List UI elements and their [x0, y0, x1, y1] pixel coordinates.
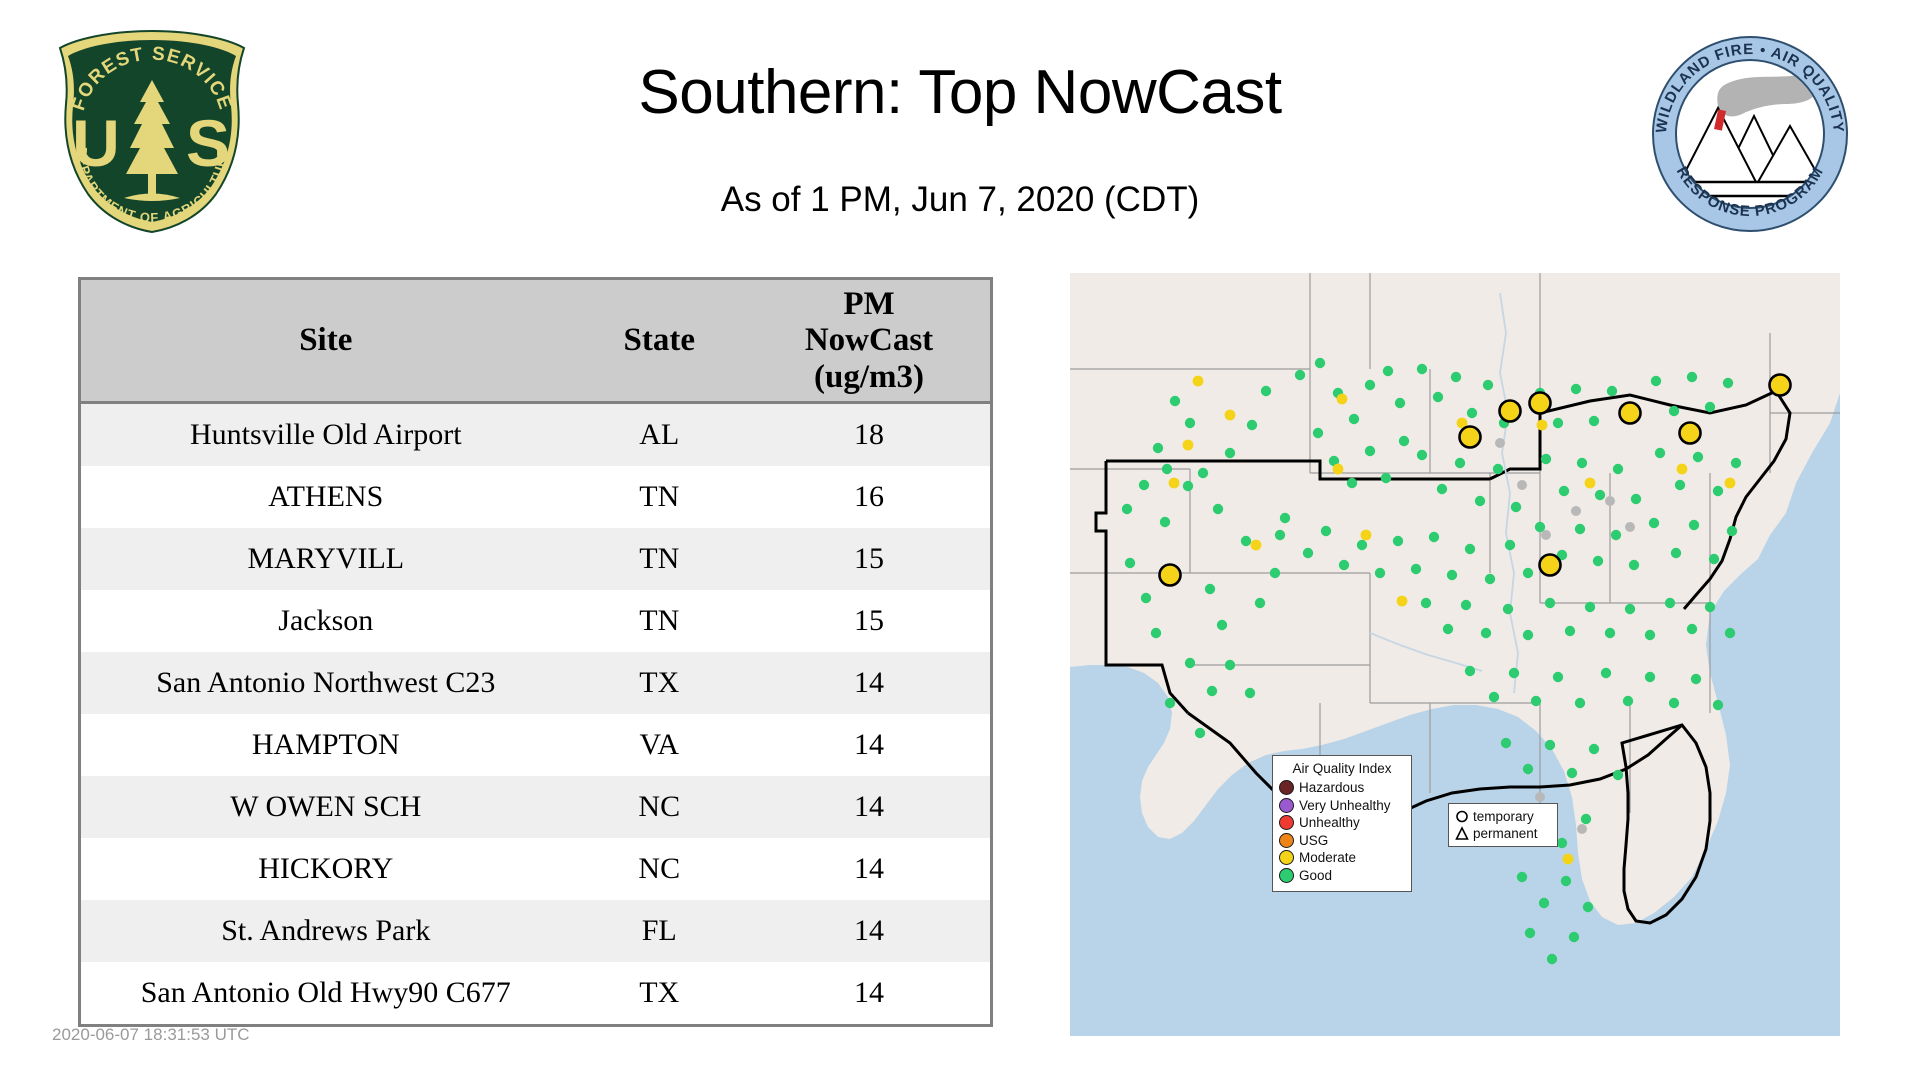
- table-row[interactable]: ATHENSTN16: [80, 466, 992, 528]
- aqi-swatch-icon: [1279, 815, 1294, 830]
- monitor-dot-good: [1375, 568, 1385, 578]
- cell-value: 14: [748, 652, 992, 714]
- monitor-dot-good: [1531, 696, 1541, 706]
- monitor-dot-good: [1247, 420, 1257, 430]
- monitor-dot-good: [1523, 568, 1533, 578]
- cell-state: NC: [571, 776, 748, 838]
- aqi-legend-label: Hazardous: [1299, 781, 1364, 795]
- monitor-dot-moderate: [1251, 540, 1262, 551]
- monitor-dot-good: [1437, 484, 1447, 494]
- triangle-icon: [1455, 826, 1469, 841]
- monitor-dot-good: [1365, 446, 1375, 456]
- monitor-dot-good: [1217, 620, 1227, 630]
- column-header-site[interactable]: Site: [80, 279, 571, 403]
- monitor-dot-good: [1585, 602, 1595, 612]
- cell-site: San Antonio Old Hwy90 C677: [80, 962, 571, 1026]
- monitor-dot-good: [1561, 876, 1571, 886]
- monitor-dot-good: [1485, 574, 1495, 584]
- wfaqrp-logo: WILDLAND FIRE • AIR QUALITY RESPONSE PRO…: [1650, 34, 1850, 234]
- monitor-dot-good: [1303, 548, 1313, 558]
- monitor-dot-good: [1349, 414, 1359, 424]
- cell-state: NC: [571, 838, 748, 900]
- table-row[interactable]: Huntsville Old AirportAL18: [80, 402, 992, 466]
- monitor-dot-moderate: [1333, 464, 1344, 475]
- monitor-dot-good: [1411, 564, 1421, 574]
- monitor-dot-good: [1447, 570, 1457, 580]
- monitor-dot-good: [1395, 398, 1405, 408]
- aqi-legend-item: Moderate: [1279, 849, 1405, 867]
- table-row[interactable]: JacksonTN15: [80, 590, 992, 652]
- monitor-dot-good: [1541, 454, 1551, 464]
- monitor-dot-good: [1611, 530, 1621, 540]
- aqi-swatch-icon: [1279, 868, 1294, 883]
- monitor-dot-good: [1160, 517, 1170, 527]
- monitor-dot-good: [1195, 728, 1205, 738]
- aqi-legend-item: Unhealthy: [1279, 814, 1405, 832]
- monitor-dot-good: [1693, 452, 1703, 462]
- cell-value: 14: [748, 838, 992, 900]
- table-row[interactable]: San Antonio Northwest C23TX14: [80, 652, 992, 714]
- pm-label: PM: [843, 286, 894, 322]
- monitor-dot-good: [1675, 480, 1685, 490]
- monitor-dot-good: [1725, 628, 1735, 638]
- monitor-dot-good: [1557, 838, 1567, 848]
- cell-site: Jackson: [80, 590, 571, 652]
- monitor-dot-top-site: [1500, 401, 1521, 422]
- cell-site: St. Andrews Park: [80, 900, 571, 962]
- monitor-dot-good: [1321, 526, 1331, 536]
- monitor-dot-moderate: [1585, 478, 1596, 489]
- symbol-legend-permanent-label: permanent: [1473, 826, 1538, 841]
- cell-state: TN: [571, 590, 748, 652]
- monitor-dot-good: [1122, 504, 1132, 514]
- monitor-dot-top-site: [1460, 427, 1481, 448]
- cell-value: 14: [748, 776, 992, 838]
- monitor-dot-good: [1605, 628, 1615, 638]
- monitor-dot-good: [1613, 464, 1623, 474]
- monitor-dot-good: [1607, 386, 1617, 396]
- monitor-dot-good: [1198, 468, 1208, 478]
- monitor-dot-good: [1270, 568, 1280, 578]
- monitor-dot-moderate: [1725, 478, 1736, 489]
- aqi-legend-title: Air Quality Index: [1279, 761, 1405, 776]
- cell-state: FL: [571, 900, 748, 962]
- monitor-dot-good: [1339, 560, 1349, 570]
- monitor-dot-good: [1691, 674, 1701, 684]
- monitor-dot-good: [1509, 668, 1519, 678]
- monitor-dot-good: [1545, 740, 1555, 750]
- monitor-dot-good: [1589, 416, 1599, 426]
- monitor-dot-good: [1225, 448, 1235, 458]
- monitor-dot-good: [1689, 520, 1699, 530]
- monitor-dot-top-site: [1530, 393, 1551, 414]
- monitor-dot-good: [1553, 672, 1563, 682]
- map-canvas: [1070, 273, 1840, 1036]
- monitor-dot-top-site: [1620, 403, 1641, 424]
- monitor-dot-good: [1433, 392, 1443, 402]
- aqi-legend-label: Unhealthy: [1299, 816, 1360, 830]
- monitor-dot-good: [1553, 418, 1563, 428]
- monitor-dot-good: [1713, 700, 1723, 710]
- monitor-dot-good: [1649, 518, 1659, 528]
- monitor-dot-unavailable: [1605, 496, 1615, 506]
- monitor-dot-good: [1505, 540, 1515, 550]
- footer-timestamp: 2020-06-07 18:31:53 UTC: [52, 1025, 250, 1045]
- monitor-dot-top-site: [1770, 375, 1791, 396]
- monitor-dot-moderate: [1169, 478, 1180, 489]
- monitor-dot-good: [1383, 366, 1393, 376]
- monitor-dot-good: [1645, 630, 1655, 640]
- cell-site: ATHENS: [80, 466, 571, 528]
- monitor-dot-good: [1727, 526, 1737, 536]
- monitor-dot-good: [1185, 418, 1195, 428]
- monitor-dot-top-site: [1160, 565, 1181, 586]
- cell-state: TN: [571, 528, 748, 590]
- monitor-dot-good: [1421, 598, 1431, 608]
- monitor-dot-good: [1417, 364, 1427, 374]
- monitor-dot-good: [1545, 598, 1555, 608]
- units-label: (ug/m3): [814, 359, 924, 395]
- aqi-legend-item: USG: [1279, 832, 1405, 850]
- monitor-dot-moderate: [1537, 420, 1548, 431]
- aqi-legend-label: Good: [1299, 869, 1332, 883]
- table-row[interactable]: San Antonio Old Hwy90 C677TX14: [80, 962, 992, 1026]
- monitor-dot-good: [1503, 604, 1513, 614]
- monitor-dot-good: [1517, 872, 1527, 882]
- monitor-dot-good: [1669, 406, 1679, 416]
- monitor-dot-moderate: [1677, 464, 1688, 475]
- monitor-dot-moderate: [1225, 410, 1236, 421]
- monitor-dot-good: [1489, 692, 1499, 702]
- monitor-dot-good: [1245, 688, 1255, 698]
- monitor-dot-good: [1581, 814, 1591, 824]
- cell-site: MARYVILL: [80, 528, 571, 590]
- monitor-dot-good: [1571, 384, 1581, 394]
- monitor-dot-good: [1629, 560, 1639, 570]
- monitor-dot-top-site: [1540, 555, 1561, 576]
- monitor-dot-unavailable: [1577, 824, 1587, 834]
- monitor-dot-good: [1483, 380, 1493, 390]
- monitor-dot-good: [1525, 928, 1535, 938]
- monitor-dot-moderate: [1183, 440, 1194, 451]
- monitor-dot-good: [1481, 628, 1491, 638]
- monitor-dot-good: [1455, 458, 1465, 468]
- monitor-dot-unavailable: [1625, 522, 1635, 532]
- monitor-dot-good: [1443, 624, 1453, 634]
- monitor-dot-good: [1705, 402, 1715, 412]
- monitor-dot-good: [1139, 480, 1149, 490]
- monitor-dot-good: [1723, 378, 1733, 388]
- table-row[interactable]: W OWEN SCHNC14: [80, 776, 992, 838]
- monitor-dot-good: [1451, 372, 1461, 382]
- monitor-dot-good: [1365, 380, 1375, 390]
- monitor-dot-good: [1261, 386, 1271, 396]
- monitor-dot-moderate: [1337, 394, 1348, 405]
- monitor-dot-good: [1347, 478, 1357, 488]
- monitor-dot-good: [1381, 473, 1391, 483]
- monitor-dot-good: [1213, 504, 1223, 514]
- monitor-dot-good: [1170, 396, 1180, 406]
- monitor-dot-good: [1665, 598, 1675, 608]
- cell-state: TN: [571, 466, 748, 528]
- monitor-dot-good: [1185, 658, 1195, 668]
- monitor-dot-good: [1465, 666, 1475, 676]
- monitor-dot-good: [1523, 630, 1533, 640]
- monitor-dot-good: [1687, 624, 1697, 634]
- monitor-dot-good: [1709, 554, 1719, 564]
- table-row[interactable]: HAMPTONVA14: [80, 714, 992, 776]
- nowcast-table: Site State PM NowCast (ug/m3) Huntsville…: [78, 277, 993, 1027]
- aqi-legend-label: USG: [1299, 834, 1328, 848]
- monitor-dot-good: [1575, 524, 1585, 534]
- monitor-dot-good: [1429, 532, 1439, 542]
- monitor-dot-good: [1467, 408, 1477, 418]
- aqi-legend-item: Hazardous: [1279, 779, 1405, 797]
- monitor-dot-good: [1241, 536, 1251, 546]
- monitor-dot-good: [1153, 443, 1163, 453]
- monitor-dot-good: [1475, 496, 1485, 506]
- monitor-dot-unavailable: [1495, 438, 1505, 448]
- monitor-dot-good: [1125, 558, 1135, 568]
- monitor-dot-unavailable: [1571, 506, 1581, 516]
- monitor-dot-good: [1207, 686, 1217, 696]
- monitor-dot-good: [1399, 436, 1409, 446]
- monitor-dot-moderate: [1361, 530, 1372, 541]
- cell-value: 18: [748, 402, 992, 466]
- aqi-swatch-icon: [1279, 833, 1294, 848]
- monitor-dot-good: [1511, 502, 1521, 512]
- cell-site: HICKORY: [80, 838, 571, 900]
- cell-value: 15: [748, 590, 992, 652]
- monitor-dot-good: [1669, 698, 1679, 708]
- monitor-dot-good: [1547, 954, 1557, 964]
- monitor-dot-good: [1183, 481, 1193, 491]
- aqi-legend-label: Very Unhealthy: [1299, 799, 1391, 813]
- monitor-dot-good: [1601, 668, 1611, 678]
- page-subtitle: As of 1 PM, Jun 7, 2020 (CDT): [380, 180, 1540, 220]
- cell-site: San Antonio Northwest C23: [80, 652, 571, 714]
- monitor-dot-good: [1225, 660, 1235, 670]
- monitor-dot-good: [1313, 428, 1323, 438]
- symbol-legend-temporary-label: temporary: [1473, 809, 1534, 824]
- monitor-dot-good: [1280, 513, 1290, 523]
- cell-site: W OWEN SCH: [80, 776, 571, 838]
- monitor-dot-good: [1623, 696, 1633, 706]
- air-quality-map[interactable]: Air Quality Index HazardousVery Unhealth…: [1070, 273, 1840, 1036]
- monitor-dot-good: [1577, 458, 1587, 468]
- monitor-dot-good: [1417, 450, 1427, 460]
- monitor-dot-good: [1655, 448, 1665, 458]
- page-title: Southern: Top NowCast: [380, 60, 1540, 125]
- aqi-swatch-icon: [1279, 798, 1294, 813]
- monitor-dot-good: [1687, 372, 1697, 382]
- symbol-legend-temporary: temporary: [1455, 808, 1551, 825]
- monitor-dot-good: [1593, 556, 1603, 566]
- monitor-dot-good: [1357, 540, 1367, 550]
- aqi-legend-label: Moderate: [1299, 851, 1356, 865]
- monitor-dot-good: [1731, 458, 1741, 468]
- monitor-dot-good: [1559, 486, 1569, 496]
- cell-state: AL: [571, 402, 748, 466]
- monitor-dot-good: [1631, 494, 1641, 504]
- monitor-dot-good: [1645, 672, 1655, 682]
- monitor-dot-good: [1465, 544, 1475, 554]
- monitor-dot-good: [1539, 898, 1549, 908]
- table-header-row: Site State PM NowCast (ug/m3): [80, 279, 992, 403]
- monitor-dot-good: [1141, 593, 1151, 603]
- nowcast-label: NowCast: [805, 322, 933, 358]
- symbol-legend: temporary permanent: [1448, 803, 1558, 847]
- circle-icon: [1455, 809, 1469, 824]
- monitor-dot-good: [1205, 584, 1215, 594]
- cell-site: Huntsville Old Airport: [80, 402, 571, 466]
- monitor-dot-good: [1583, 902, 1593, 912]
- monitor-dot-unavailable: [1541, 530, 1551, 540]
- monitor-dot-good: [1523, 764, 1533, 774]
- monitor-dot-top-site: [1680, 423, 1701, 444]
- monitor-dot-good: [1671, 548, 1681, 558]
- monitor-dot-good: [1501, 738, 1511, 748]
- cell-value: 14: [748, 714, 992, 776]
- table-row[interactable]: St. Andrews ParkFL14: [80, 900, 992, 962]
- cell-value: 14: [748, 962, 992, 1026]
- monitor-dot-good: [1569, 932, 1579, 942]
- cell-value: 14: [748, 900, 992, 962]
- monitor-dot-good: [1713, 486, 1723, 496]
- cell-state: TX: [571, 652, 748, 714]
- monitor-dot-good: [1151, 628, 1161, 638]
- monitor-dot-moderate: [1193, 376, 1204, 387]
- usfs-shield-logo: FOREST SERVICE U S DEPARTMENT OF AGRICUL…: [52, 26, 252, 236]
- monitor-dot-good: [1162, 464, 1172, 474]
- monitor-dot-good: [1315, 358, 1325, 368]
- monitor-dot-good: [1705, 602, 1715, 612]
- monitor-dot-good: [1275, 530, 1285, 540]
- monitor-dot-moderate: [1563, 854, 1574, 865]
- cell-value: 16: [748, 466, 992, 528]
- aqi-legend-item: Good: [1279, 867, 1405, 885]
- column-header-state[interactable]: State: [571, 279, 748, 403]
- monitor-dot-good: [1393, 536, 1403, 546]
- cell-state: TX: [571, 962, 748, 1026]
- symbol-legend-permanent: permanent: [1455, 825, 1551, 842]
- aqi-swatch-icon: [1279, 780, 1294, 795]
- monitor-dot-good: [1613, 770, 1623, 780]
- aqi-legend: Air Quality Index HazardousVery Unhealth…: [1272, 755, 1412, 892]
- monitor-dot-good: [1565, 626, 1575, 636]
- monitor-dot-good: [1165, 698, 1175, 708]
- table-row[interactable]: MARYVILLTN15: [80, 528, 992, 590]
- monitor-dot-moderate: [1397, 596, 1408, 607]
- cell-value: 15: [748, 528, 992, 590]
- monitor-dot-unavailable: [1535, 792, 1545, 802]
- monitor-dot-good: [1567, 768, 1577, 778]
- column-header-pm-nowcast[interactable]: PM NowCast (ug/m3): [748, 279, 992, 403]
- monitor-dot-good: [1255, 598, 1265, 608]
- cell-site: HAMPTON: [80, 714, 571, 776]
- aqi-legend-item: Very Unhealthy: [1279, 797, 1405, 815]
- monitor-dot-good: [1461, 600, 1471, 610]
- cell-state: VA: [571, 714, 748, 776]
- aqi-swatch-icon: [1279, 850, 1294, 865]
- table-row[interactable]: HICKORYNC14: [80, 838, 992, 900]
- monitor-dot-good: [1295, 370, 1305, 380]
- monitor-dot-good: [1575, 698, 1585, 708]
- monitor-dot-good: [1595, 490, 1605, 500]
- monitor-dot-good: [1651, 376, 1661, 386]
- monitor-dot-good: [1625, 604, 1635, 614]
- monitor-dot-unavailable: [1517, 480, 1527, 490]
- monitor-dot-good: [1589, 744, 1599, 754]
- monitor-dot-good: [1493, 464, 1503, 474]
